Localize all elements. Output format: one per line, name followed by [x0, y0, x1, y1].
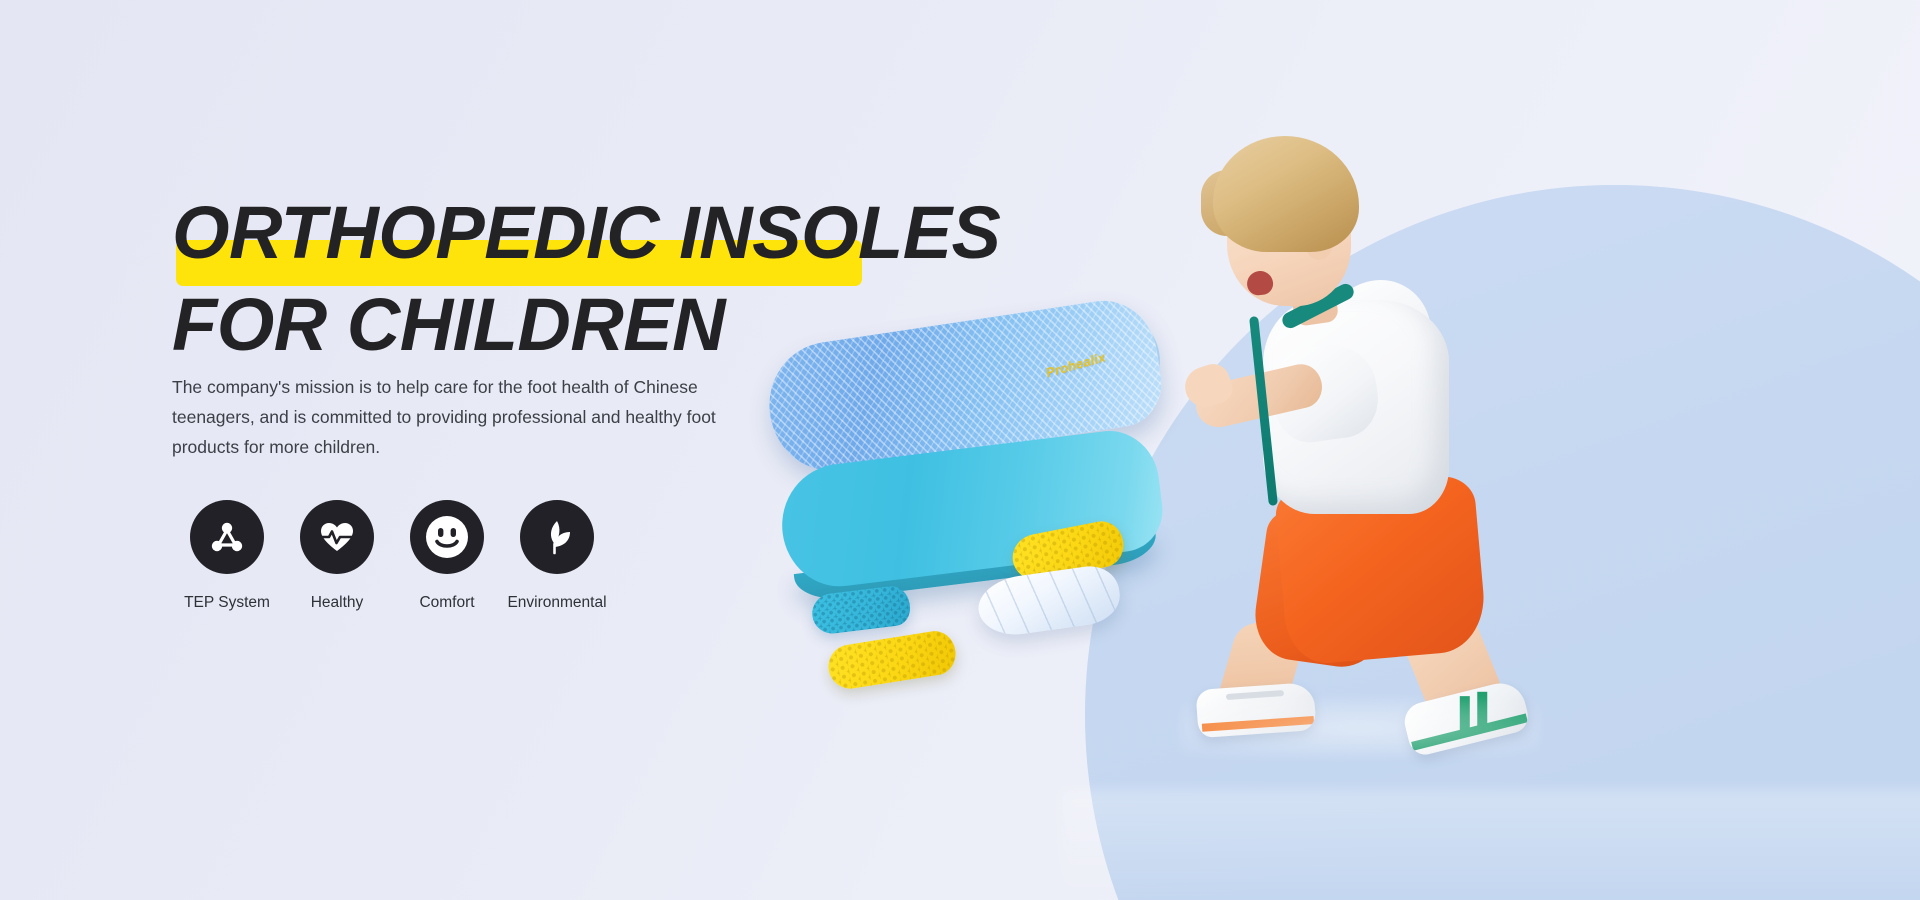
feature-label: Healthy [311, 594, 364, 612]
title-line-1: ORTHOPEDIC INSOLES [172, 196, 972, 270]
feature-item-tep-system[interactable]: TEP System [172, 500, 282, 612]
hero-banner: ORTHOPEDIC INSOLES FOR CHILDREN The comp… [0, 0, 1920, 900]
tep-system-icon [190, 500, 264, 574]
ground-reflection [1180, 700, 1540, 756]
feature-item-comfort[interactable]: Comfort [392, 500, 502, 612]
feature-label: Comfort [419, 594, 474, 612]
floor-sheen [1060, 790, 1920, 900]
hero-subtitle: The company's mission is to help care fo… [172, 372, 752, 462]
feature-item-environmental[interactable]: Environmental [502, 500, 612, 612]
yellow-arch-pad [825, 628, 958, 691]
title-line-1-text: ORTHOPEDIC INSOLES [172, 191, 1000, 274]
feature-list: TEP System Healthy [172, 500, 612, 612]
model-boy-running [1155, 130, 1575, 715]
hair [1213, 136, 1359, 252]
title-line-2-text: FOR CHILDREN [172, 283, 725, 366]
feature-label: TEP System [184, 594, 270, 612]
heartbeat-icon [300, 500, 374, 574]
feature-item-healthy[interactable]: Healthy [282, 500, 392, 612]
feature-label: Environmental [507, 594, 606, 612]
smiley-icon [410, 500, 484, 574]
leaf-icon [520, 500, 594, 574]
